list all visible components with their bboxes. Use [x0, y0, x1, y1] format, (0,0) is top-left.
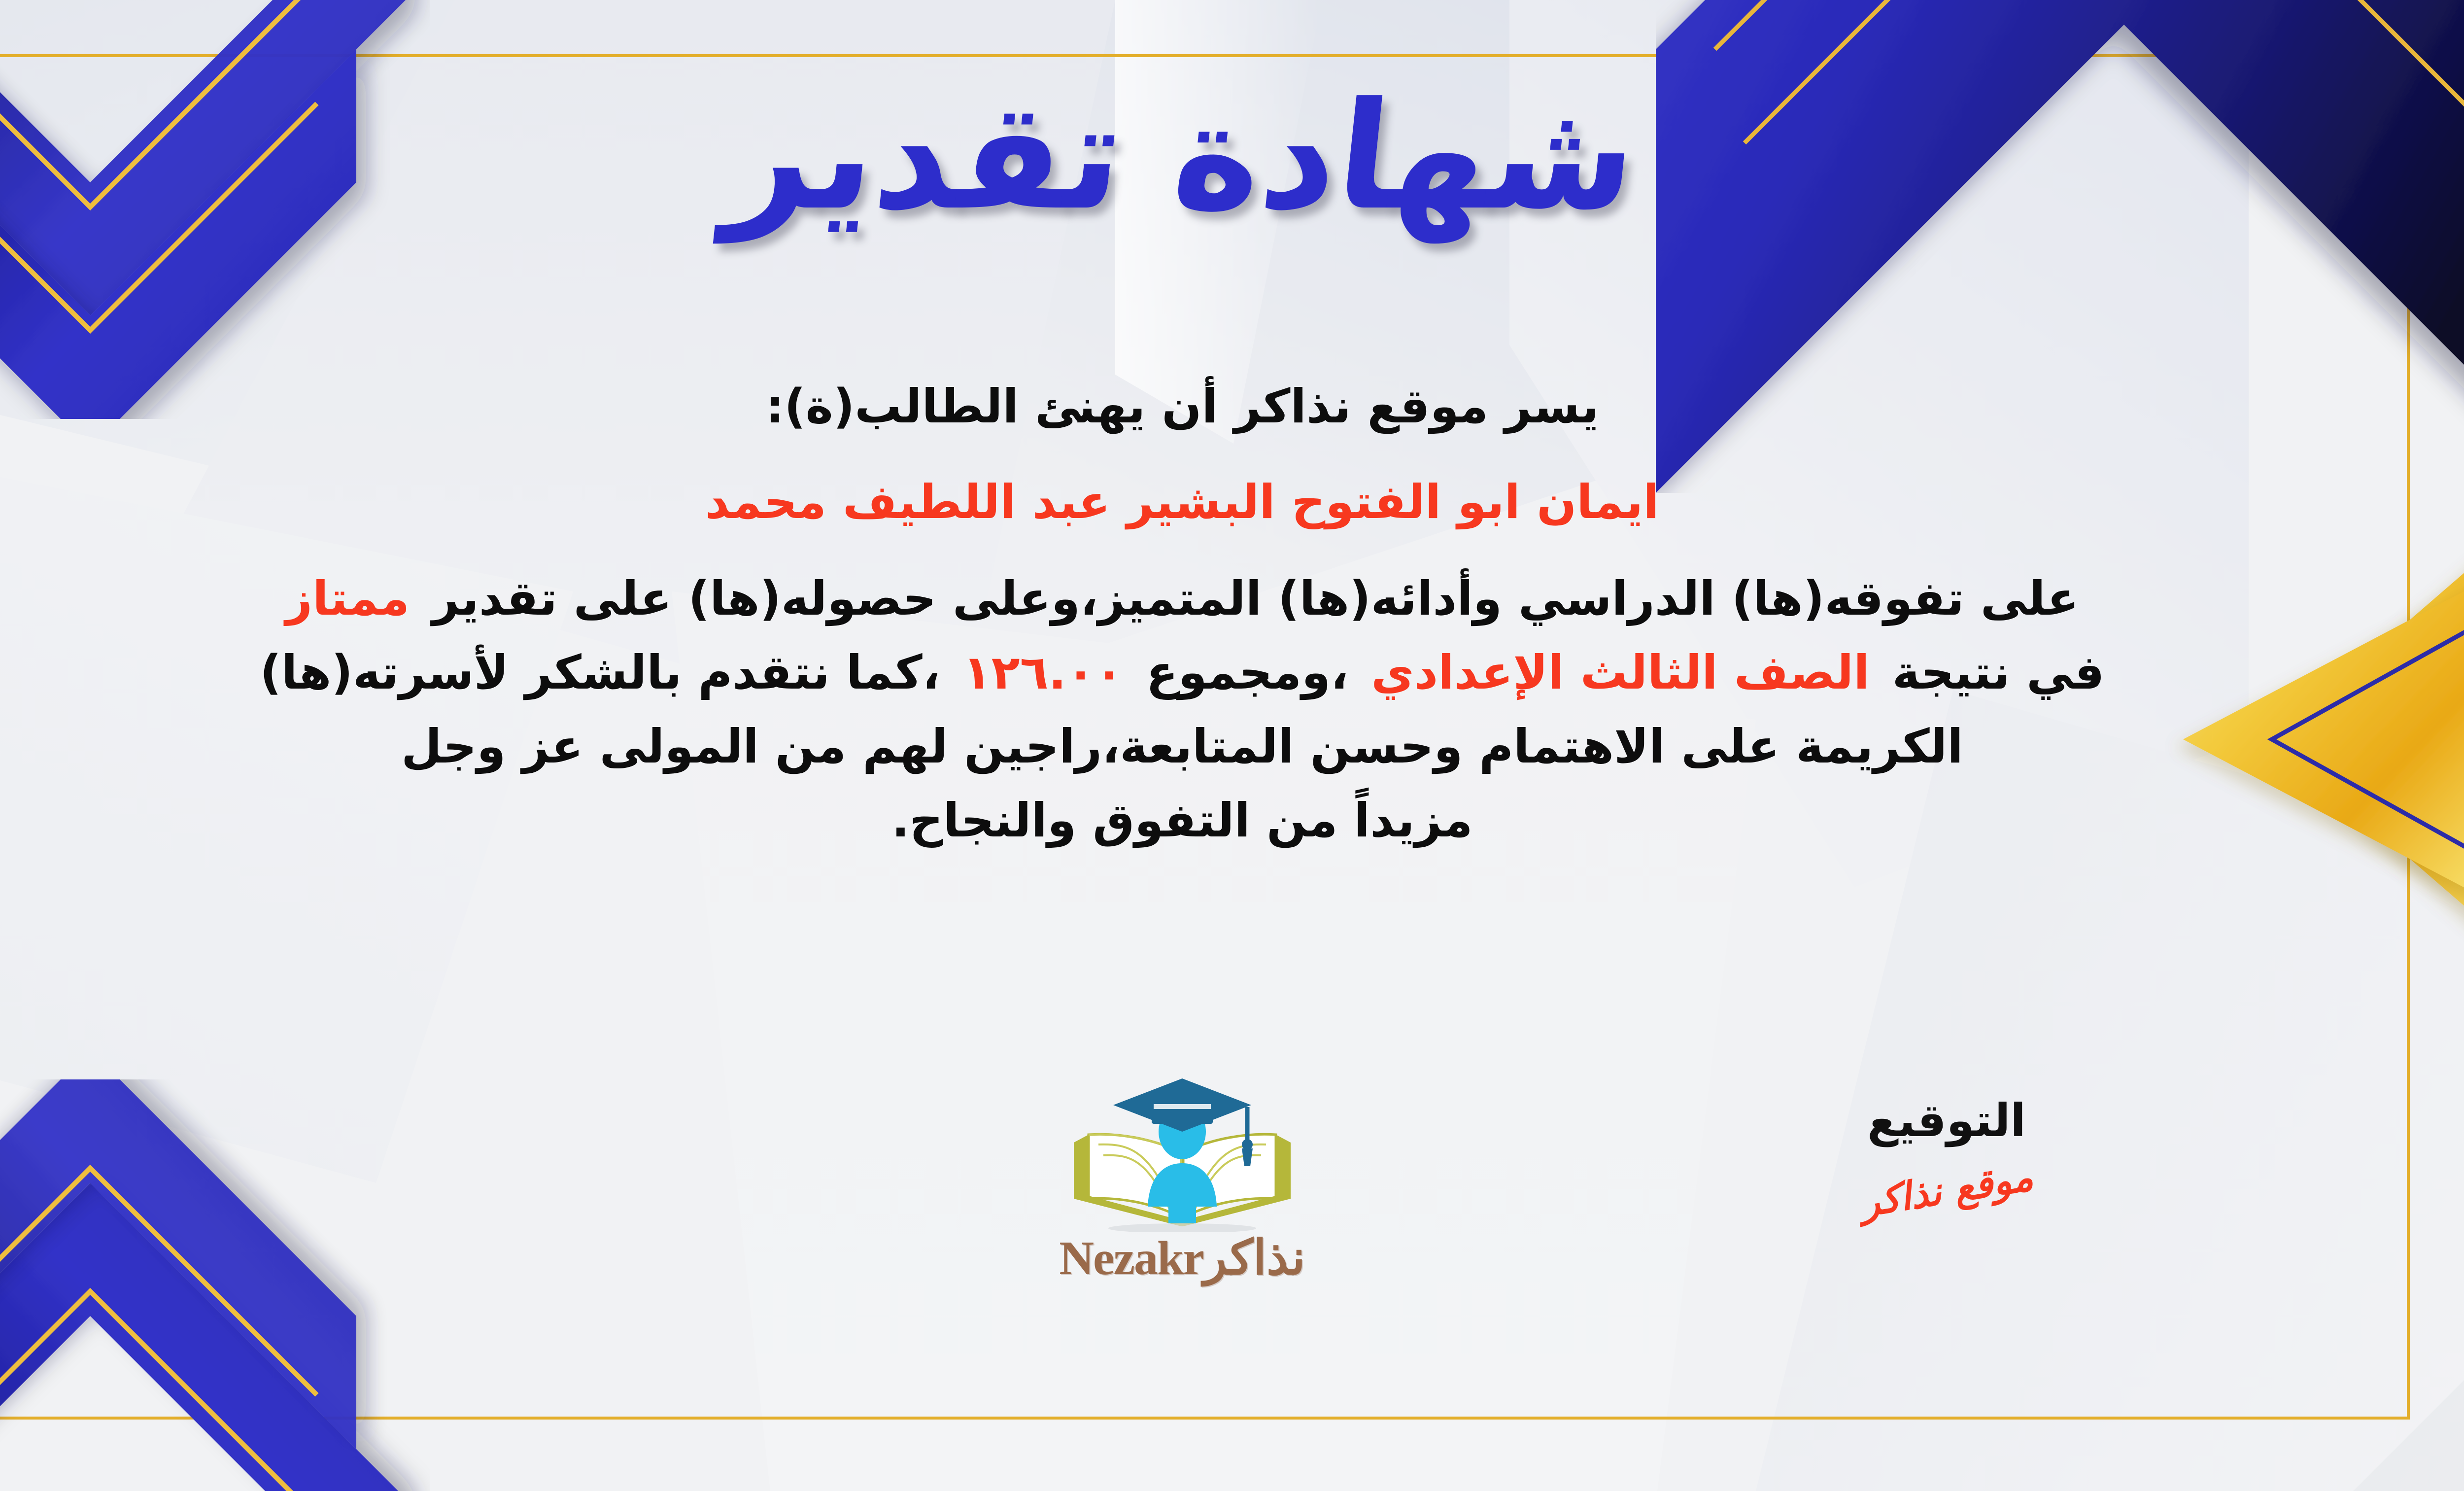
achievement-paragraph-line-1: على تفوقه(ها) الدراسي وأدائه(ها) المتميز… [14, 562, 2351, 636]
achievement-paragraph-line-3: الكريمة على الاهتمام وحسن المتابعة،راجين… [14, 710, 2351, 784]
intro-line: يسر موقع نذاكر أن يهنئ الطالب(ة): [14, 370, 2351, 444]
graduation-book-logo-icon [1054, 1070, 1310, 1232]
site-logo: نذاكرNezakr [0, 1070, 2410, 1286]
logo-name-arabic: نذاكر [1203, 1229, 1305, 1286]
certificate-body: يسر موقع نذاكر أن يهنئ الطالب(ة): ايمان … [0, 370, 2410, 858]
certificate-title: شهادة تقدير [0, 79, 2418, 234]
certificate-content: شهادة تقدير يسر موقع نذاكر أن يهنئ الطال… [0, 54, 2410, 1420]
student-name: ايمان ابو الفتوح البشير عبد اللطيف محمد [14, 465, 2351, 539]
class-value: الصف الثالث الإعدادي [1371, 646, 1870, 700]
achievement-text-2: في نتيجة [1892, 646, 2105, 700]
logo-name-latin: Nezakr [1059, 1232, 1203, 1285]
certificate-canvas: شهادة تقدير يسر موقع نذاكر أن يهنئ الطال… [0, 0, 2464, 1491]
logo-wordmark: نذاكرNezakr [1059, 1229, 1305, 1286]
achievement-text-1: على تفوقه(ها) الدراسي وأدائه(ها) المتميز… [432, 572, 2079, 626]
achievement-paragraph-line-4: مزيداً من التفوق والنجاح. [14, 784, 2351, 858]
achievement-text-4: ،كما نتقدم بالشكر لأسرته(ها) [260, 646, 940, 700]
grade-value: ممتاز [285, 572, 410, 626]
total-score-value: ١٢٦.٠٠ [963, 646, 1124, 700]
achievement-paragraph-line-2: في نتيجةالصف الثالث الإعدادي،ومجموع١٢٦.٠… [14, 636, 2351, 710]
achievement-text-3: ،ومجموع [1146, 646, 1349, 700]
